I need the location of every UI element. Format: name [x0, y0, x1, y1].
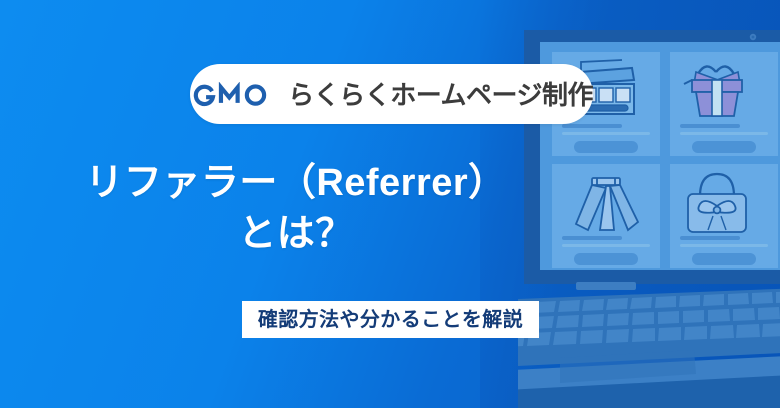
product-title-line [680, 236, 740, 240]
product-button [692, 141, 756, 153]
product-button [692, 253, 756, 265]
product-title-line [680, 124, 740, 128]
product-button [574, 141, 638, 153]
page-title: リファラー（Referrer） とは？ [0, 158, 592, 260]
subtitle-text: 確認方法や分かることを解説 [258, 310, 523, 330]
product-desc-line [680, 244, 768, 247]
product-desc-line [680, 132, 768, 135]
brand-logo-pill: らくらくホームページ制作 [190, 64, 593, 124]
subtitle-band: 確認方法や分かることを解説 [242, 301, 539, 338]
gmo-logo-icon [190, 82, 279, 107]
brand-service-name: らくらくホームページ制作 [288, 82, 593, 108]
page-title-line-2: とは？ [0, 209, 592, 260]
page-title-line-1: リファラー（Referrer） [0, 158, 592, 209]
product-desc-line [562, 132, 650, 135]
laptop-hinge [576, 282, 636, 290]
hero-banner: らくらくホームページ制作 リファラー（Referrer） とは？ 確認方法や分か… [0, 0, 780, 408]
product-title-line [562, 124, 622, 128]
